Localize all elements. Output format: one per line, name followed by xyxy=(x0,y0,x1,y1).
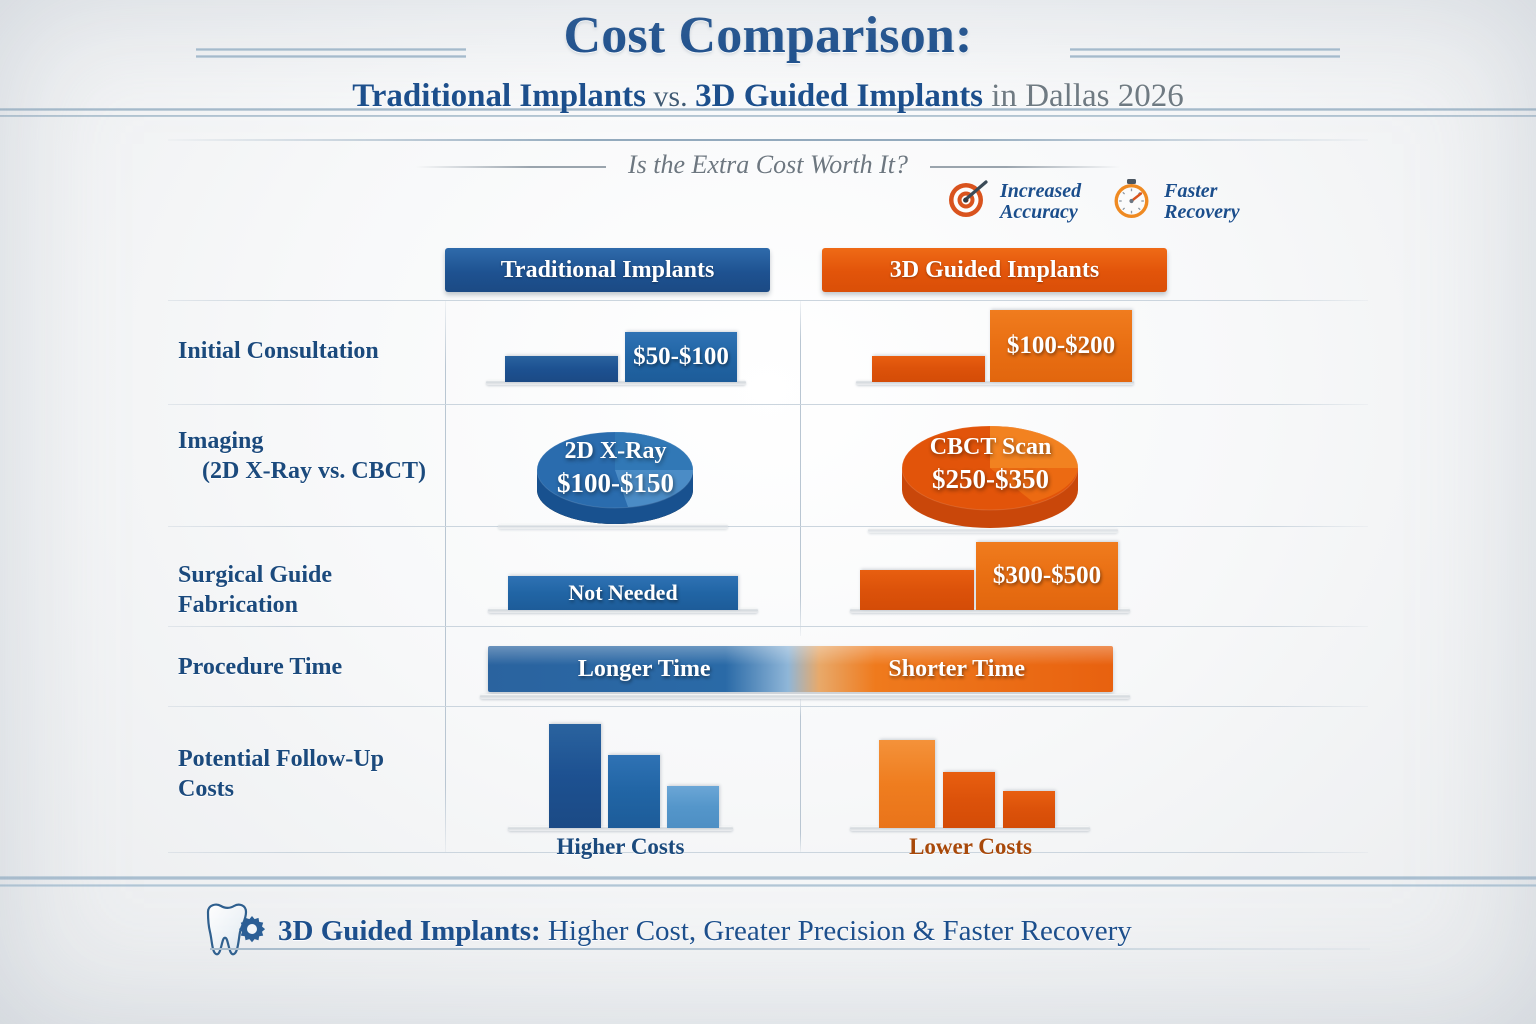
tagline-text: Is the Extra Cost Worth It? xyxy=(628,150,908,179)
title-block: Cost Comparison: xyxy=(0,6,1536,65)
divider-row-3 xyxy=(168,626,1368,627)
divider-row-4 xyxy=(168,706,1368,707)
pie-label-r2-guided: CBCT Scan $250-$350 xyxy=(883,402,1098,524)
pie-r2-guided: CBCT Scan $250-$350 xyxy=(883,410,1098,532)
divider-row-2 xyxy=(168,526,1368,527)
column-header-guided[interactable]: 3D Guided Implants xyxy=(822,248,1167,292)
divider-vertical-mid-upper xyxy=(800,300,801,636)
bar-r5-trad-1 xyxy=(549,724,601,828)
benefit-badges: Increased Accuracy xyxy=(945,176,1240,227)
subtitle-vs: vs. xyxy=(646,80,695,113)
row-label-imaging-sub: (2D X-Ray vs. CBCT) xyxy=(178,456,443,486)
subtitle-traditional: Traditional Implants xyxy=(352,78,646,114)
bar-r5-guided-3 xyxy=(1003,791,1055,828)
row-label-followup-costs: Potential Follow-Up Costs xyxy=(178,744,443,804)
divider-row-5 xyxy=(168,852,1368,853)
divider-vertical-left xyxy=(445,300,446,852)
gradient-bar-procedure-time: Longer Time Shorter Time xyxy=(488,646,1113,692)
badge-line2: Accuracy xyxy=(1000,201,1078,223)
pie-label-r2-trad: 2D X-Ray $100-$150 xyxy=(518,412,713,522)
title-rule-right xyxy=(1070,48,1340,61)
badge-faster-recovery: Faster Recovery xyxy=(1109,176,1240,227)
bar-label-r1-trad: $50-$100 xyxy=(625,332,737,382)
bottom-decorative-band xyxy=(0,876,1536,890)
shelf-r4 xyxy=(480,694,1130,699)
bar-label-r3-guided: $300-$500 xyxy=(976,542,1118,610)
stopwatch-icon xyxy=(1109,176,1155,227)
row-label-procedure-time: Procedure Time xyxy=(178,652,443,682)
bar-r3-guided-main: $300-$500 xyxy=(976,542,1118,610)
badge-label-recovery: Faster Recovery xyxy=(1164,181,1240,223)
gradient-bar-label-guided: Shorter Time xyxy=(801,646,1114,692)
footer-text-bold: 3D Guided Implants: xyxy=(278,915,541,947)
gradient-bar-label-traditional: Longer Time xyxy=(488,646,801,692)
divider-row-1 xyxy=(168,404,1368,405)
row-label-initial-consultation: Initial Consultation xyxy=(178,336,443,366)
target-icon xyxy=(945,176,991,227)
badge-line1: Faster xyxy=(1164,180,1217,202)
bar-r1-trad-main: $50-$100 xyxy=(625,332,737,382)
subtitle-location: in Dallas 2026 xyxy=(983,78,1184,114)
divider-row-0 xyxy=(168,300,1368,301)
bar-r3-trad: Not Needed xyxy=(508,576,738,610)
pie-name-r2-guided: CBCT Scan xyxy=(930,431,1052,463)
comparison-grid: Traditional Implants 3D Guided Implants … xyxy=(168,248,1368,858)
pie-r2-traditional: 2D X-Ray $100-$150 xyxy=(518,418,713,528)
bar-r5-guided-2 xyxy=(943,772,995,828)
footer-underline xyxy=(210,948,1370,950)
header-divider xyxy=(168,139,1368,141)
bar-r1-guided-small xyxy=(872,356,985,382)
bar-label-r3-trad: Not Needed xyxy=(508,576,738,610)
tagline: Is the Extra Cost Worth It? xyxy=(606,150,930,180)
footer-text-rest: Higher Cost, Greater Precision & Faster … xyxy=(541,915,1132,947)
tooth-gear-icon xyxy=(196,902,266,965)
row-label-imaging: Imaging (2D X-Ray vs. CBCT) xyxy=(178,426,443,486)
pie-name-r2-trad: 2D X-Ray xyxy=(565,435,667,467)
subtitle-guided: 3D Guided Implants xyxy=(695,78,983,114)
title-rule-left xyxy=(196,48,466,61)
pie-value-r2-trad: $100-$150 xyxy=(557,467,674,499)
page-title: Cost Comparison: xyxy=(563,6,972,65)
pie-value-r2-guided: $250-$350 xyxy=(932,463,1049,495)
badge-line1: Increased xyxy=(1000,180,1081,202)
bar-r5-trad-2 xyxy=(608,755,660,828)
divider-vertical-mid-lower xyxy=(800,698,801,852)
bar-r1-guided-main: $100-$200 xyxy=(990,310,1132,382)
badge-label-accuracy: Increased Accuracy xyxy=(1000,181,1081,223)
infographic-page: Cost Comparison: Traditional Implants vs… xyxy=(0,0,1536,1024)
column-header-traditional[interactable]: Traditional Implants xyxy=(445,248,770,292)
bar-label-r1-guided: $100-$200 xyxy=(990,310,1132,382)
bar-r1-trad-small xyxy=(505,356,618,382)
footer-label-higher-costs: Higher Costs xyxy=(513,834,728,860)
tagline-rule-left xyxy=(416,166,606,168)
footer-label-lower-costs: Lower Costs xyxy=(858,834,1083,860)
footer-banner: 3D Guided Implants: Higher Cost, Greater… xyxy=(196,902,1132,965)
bar-r5-guided-1 xyxy=(879,740,935,828)
bar-r5-trad-3 xyxy=(667,786,719,828)
row-label-imaging-main: Imaging xyxy=(178,428,263,454)
badge-increased-accuracy: Increased Accuracy xyxy=(945,176,1081,227)
footer-text: 3D Guided Implants: Higher Cost, Greater… xyxy=(278,915,1132,952)
tagline-row: Is the Extra Cost Worth It? xyxy=(0,150,1536,180)
badge-line2: Recovery xyxy=(1164,201,1240,223)
tagline-rule-right xyxy=(930,166,1120,168)
row-label-surgical-guide: Surgical Guide Fabrication xyxy=(178,560,443,620)
subtitle: Traditional Implants vs. 3D Guided Impla… xyxy=(0,78,1536,115)
bar-r3-guided-small xyxy=(860,570,974,610)
